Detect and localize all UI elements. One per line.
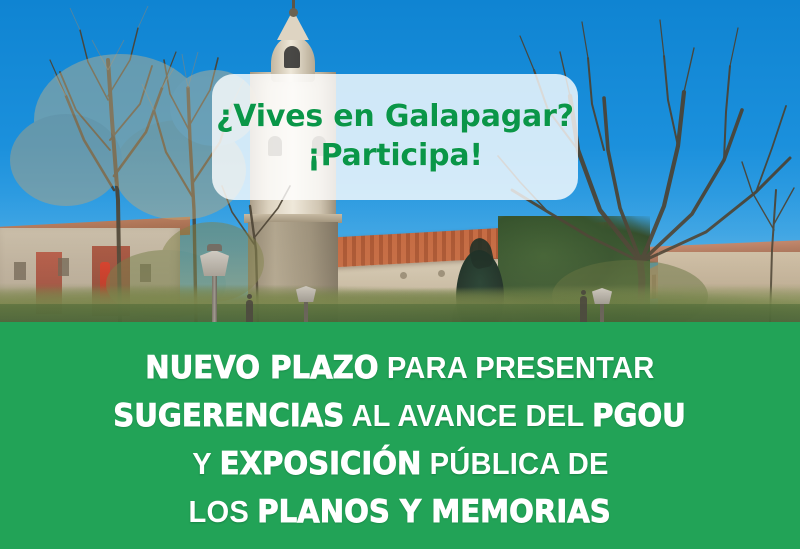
headline-line-2: SUGERENCIAS AL AVANCE DEL PGOU: [114, 392, 687, 440]
street-lamp-cap: [207, 244, 222, 251]
callout-box: ¿Vives en Galapagar? ¡Participa!: [212, 74, 578, 200]
headline-segment: EXPOSICIÓN: [219, 446, 421, 482]
street-lamp-pole: [212, 272, 217, 322]
headline-segment: PGOU: [593, 398, 687, 434]
headline-block: NUEVO PLAZO PARA PRESENTAR SUGERENCIAS A…: [0, 322, 800, 551]
pedestrian-a: [246, 300, 253, 322]
headline-segment: PÚBLICA DE: [421, 446, 608, 481]
headline-segment: Y: [192, 446, 219, 481]
headline-segment: NUEVO PLAZO: [145, 350, 378, 386]
callout-line-2: ¡Participa!: [307, 138, 483, 175]
headline-segment: SUGERENCIAS: [114, 398, 345, 434]
headline-segment: LOS: [189, 494, 258, 529]
headline-segment: PARA PRESENTAR: [379, 350, 655, 385]
callout-line-1: ¿Vives en Galapagar?: [216, 99, 574, 136]
headline-line-1: NUEVO PLAZO PARA PRESENTAR: [145, 344, 654, 392]
photo-banner: ¿Vives en Galapagar? ¡Participa!: [0, 0, 800, 322]
headline-segment: AL AVANCE DEL: [345, 398, 593, 433]
headline-segment: PLANOS Y MEMORIAS: [258, 494, 612, 530]
pedestrian-b: [580, 296, 587, 322]
headline-line-4: LOS PLANOS Y MEMORIAS: [189, 488, 611, 536]
hedge-row: [0, 304, 800, 322]
headline-line-3: Y EXPOSICIÓN PÚBLICA DE: [192, 440, 608, 488]
poster-root: ¿Vives en Galapagar? ¡Participa! NUEVO P…: [0, 0, 800, 551]
